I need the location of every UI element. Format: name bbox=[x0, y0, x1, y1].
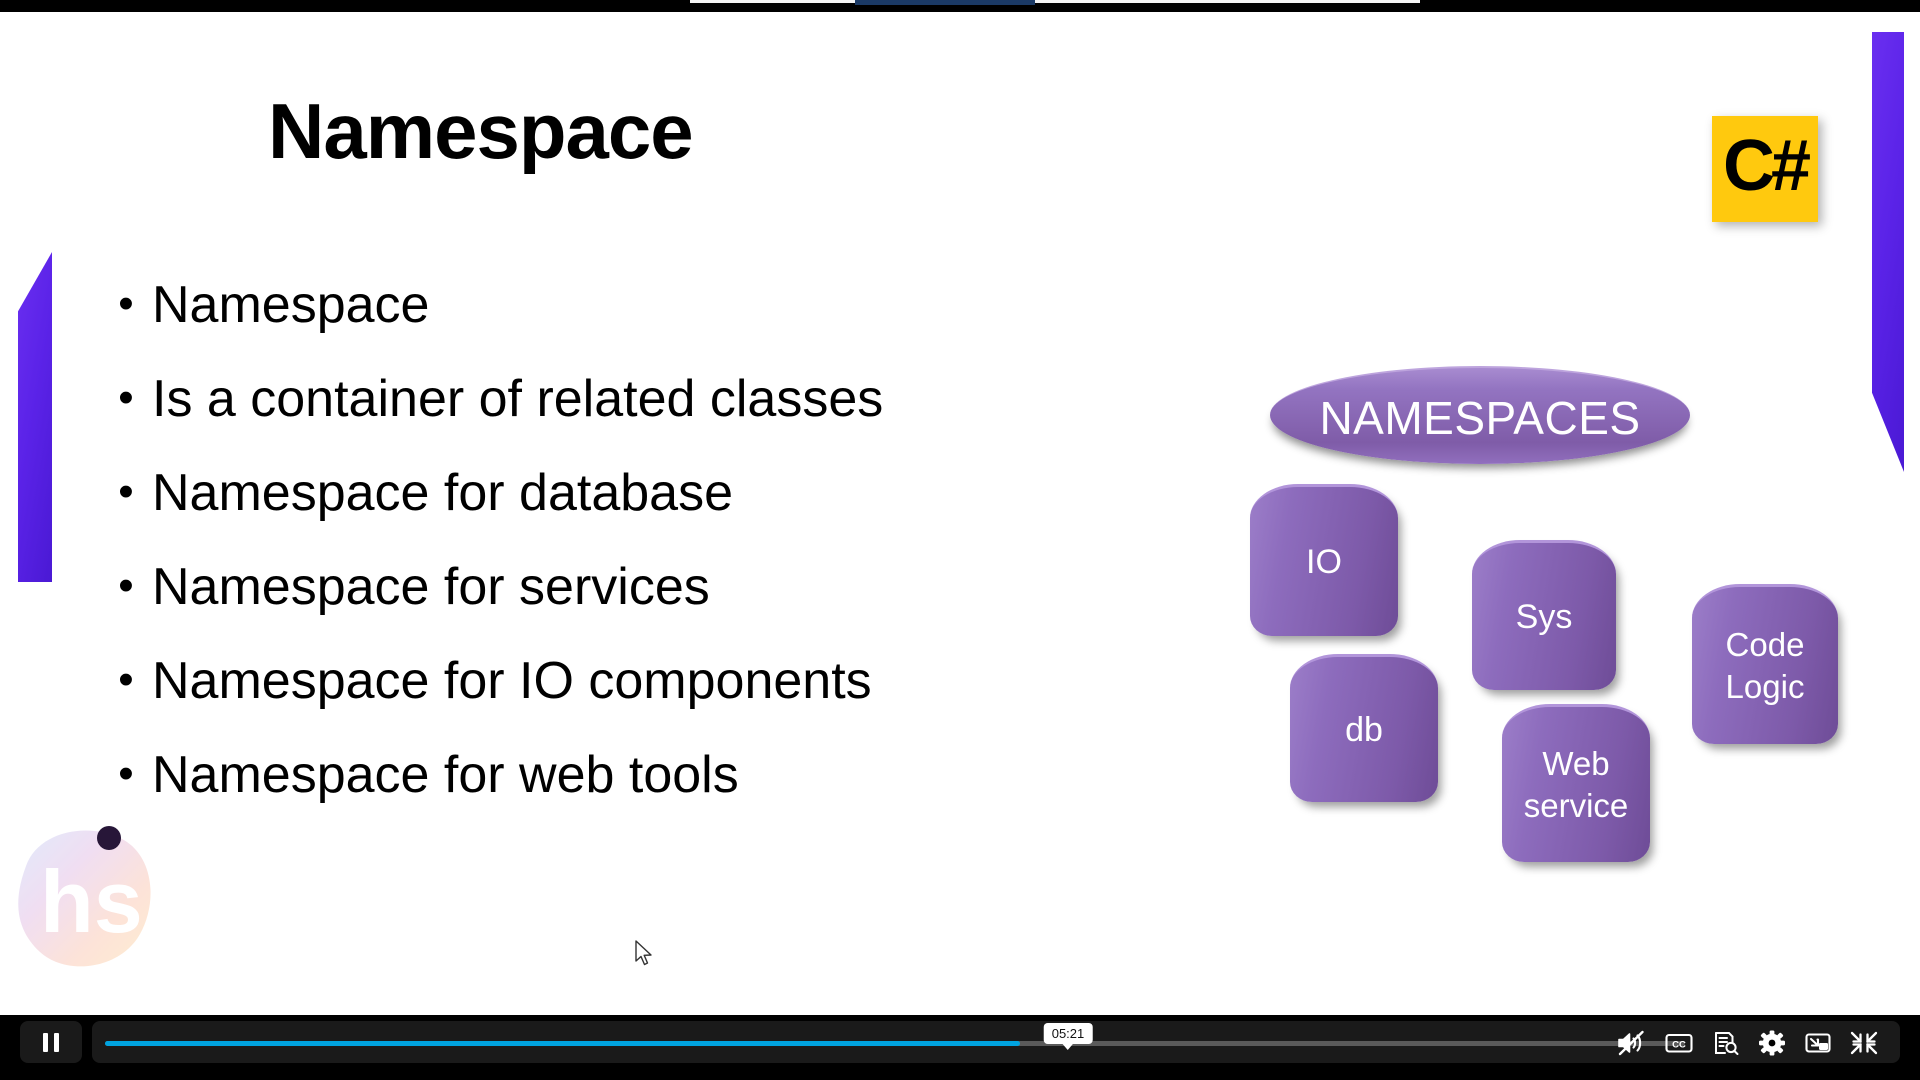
svg-text:hs: hs bbox=[40, 852, 143, 951]
slide-title: Namespace bbox=[268, 92, 693, 170]
diagram-node-label-line2: service bbox=[1524, 787, 1629, 824]
list-item: • Namespace for web tools bbox=[100, 744, 1240, 816]
decorative-accent-bar-left bbox=[18, 252, 52, 582]
diagram-node-code-logic: Code Logic bbox=[1692, 584, 1838, 744]
diagram-node-label: db bbox=[1345, 710, 1383, 750]
diagram-node-label-line2: Logic bbox=[1726, 668, 1805, 705]
transcript-icon[interactable] bbox=[1712, 1030, 1740, 1056]
bullet-marker-icon: • bbox=[100, 368, 152, 428]
list-item: • Is a container of related classes bbox=[100, 368, 1240, 440]
progress-fill bbox=[105, 1041, 1020, 1046]
csharp-logo-glyph: C# bbox=[1723, 130, 1807, 202]
namespaces-banner: NAMESPACES bbox=[1270, 366, 1690, 464]
csharp-logo: C# bbox=[1712, 116, 1818, 222]
list-item-label: Is a container of related classes bbox=[152, 368, 883, 430]
volume-muted-icon[interactable] bbox=[1616, 1030, 1646, 1056]
video-player-controls: 05:21 CC bbox=[0, 1015, 1920, 1068]
progress-scrubber[interactable]: 05:21 bbox=[105, 1041, 1685, 1046]
diagram-node-label: IO bbox=[1306, 542, 1342, 582]
diagram-node-sys: Sys bbox=[1472, 540, 1616, 690]
diagram-node-db: db bbox=[1290, 654, 1438, 802]
namespaces-banner-label: NAMESPACES bbox=[1319, 395, 1640, 441]
diagram-node-web-service: Web service bbox=[1502, 704, 1650, 862]
list-item: • Namespace for IO components bbox=[100, 650, 1240, 722]
namespaces-diagram: NAMESPACES IO Sys Code Logic db Web bbox=[1250, 352, 1890, 972]
browser-tab-strip bbox=[690, 0, 1420, 3]
pause-button[interactable] bbox=[20, 1021, 82, 1063]
hs-watermark: hs bbox=[8, 824, 168, 976]
player-icon-group: CC bbox=[1616, 1025, 1878, 1061]
list-item-label: Namespace for database bbox=[152, 462, 733, 524]
list-item-label: Namespace for IO components bbox=[152, 650, 872, 712]
bullet-marker-icon: • bbox=[100, 744, 152, 804]
bullet-marker-icon: • bbox=[100, 650, 152, 710]
diagram-node-label: Code Logic bbox=[1726, 624, 1805, 708]
list-item: • Namespace bbox=[100, 274, 1240, 346]
diagram-node-label: Sys bbox=[1516, 597, 1573, 637]
browser-chrome-strip bbox=[0, 0, 1920, 12]
list-item: • Namespace for services bbox=[100, 556, 1240, 628]
settings-gear-icon[interactable] bbox=[1758, 1030, 1786, 1056]
list-item: • Namespace for database bbox=[100, 462, 1240, 534]
diagram-node-io: IO bbox=[1250, 484, 1398, 636]
diagram-node-label-line1: Code bbox=[1726, 626, 1805, 663]
mouse-cursor bbox=[634, 940, 656, 968]
svg-text:CC: CC bbox=[1672, 1039, 1686, 1050]
presentation-slide: Namespace • Namespace • Is a container o… bbox=[0, 12, 1920, 1015]
player-controls-panel: 05:21 CC bbox=[92, 1021, 1900, 1063]
screen: Namespace • Namespace • Is a container o… bbox=[0, 0, 1920, 1080]
exit-fullscreen-icon[interactable] bbox=[1850, 1030, 1878, 1056]
bullet-list: • Namespace • Is a container of related … bbox=[100, 274, 1240, 838]
pause-icon-bar bbox=[54, 1033, 59, 1052]
bullet-marker-icon: • bbox=[100, 274, 152, 334]
list-item-label: Namespace for services bbox=[152, 556, 710, 618]
closed-captions-icon[interactable]: CC bbox=[1664, 1030, 1694, 1056]
picture-in-picture-icon[interactable] bbox=[1804, 1030, 1832, 1056]
diagram-node-label: Web service bbox=[1524, 743, 1629, 827]
browser-tab-accent bbox=[855, 0, 1035, 5]
list-item-label: Namespace for web tools bbox=[152, 744, 739, 806]
pause-icon-bar bbox=[43, 1033, 48, 1052]
bullet-marker-icon: • bbox=[100, 462, 152, 522]
bullet-marker-icon: • bbox=[100, 556, 152, 616]
time-tooltip: 05:21 bbox=[1044, 1023, 1093, 1044]
list-item-label: Namespace bbox=[152, 274, 429, 336]
diagram-node-label-line1: Web bbox=[1542, 745, 1609, 782]
